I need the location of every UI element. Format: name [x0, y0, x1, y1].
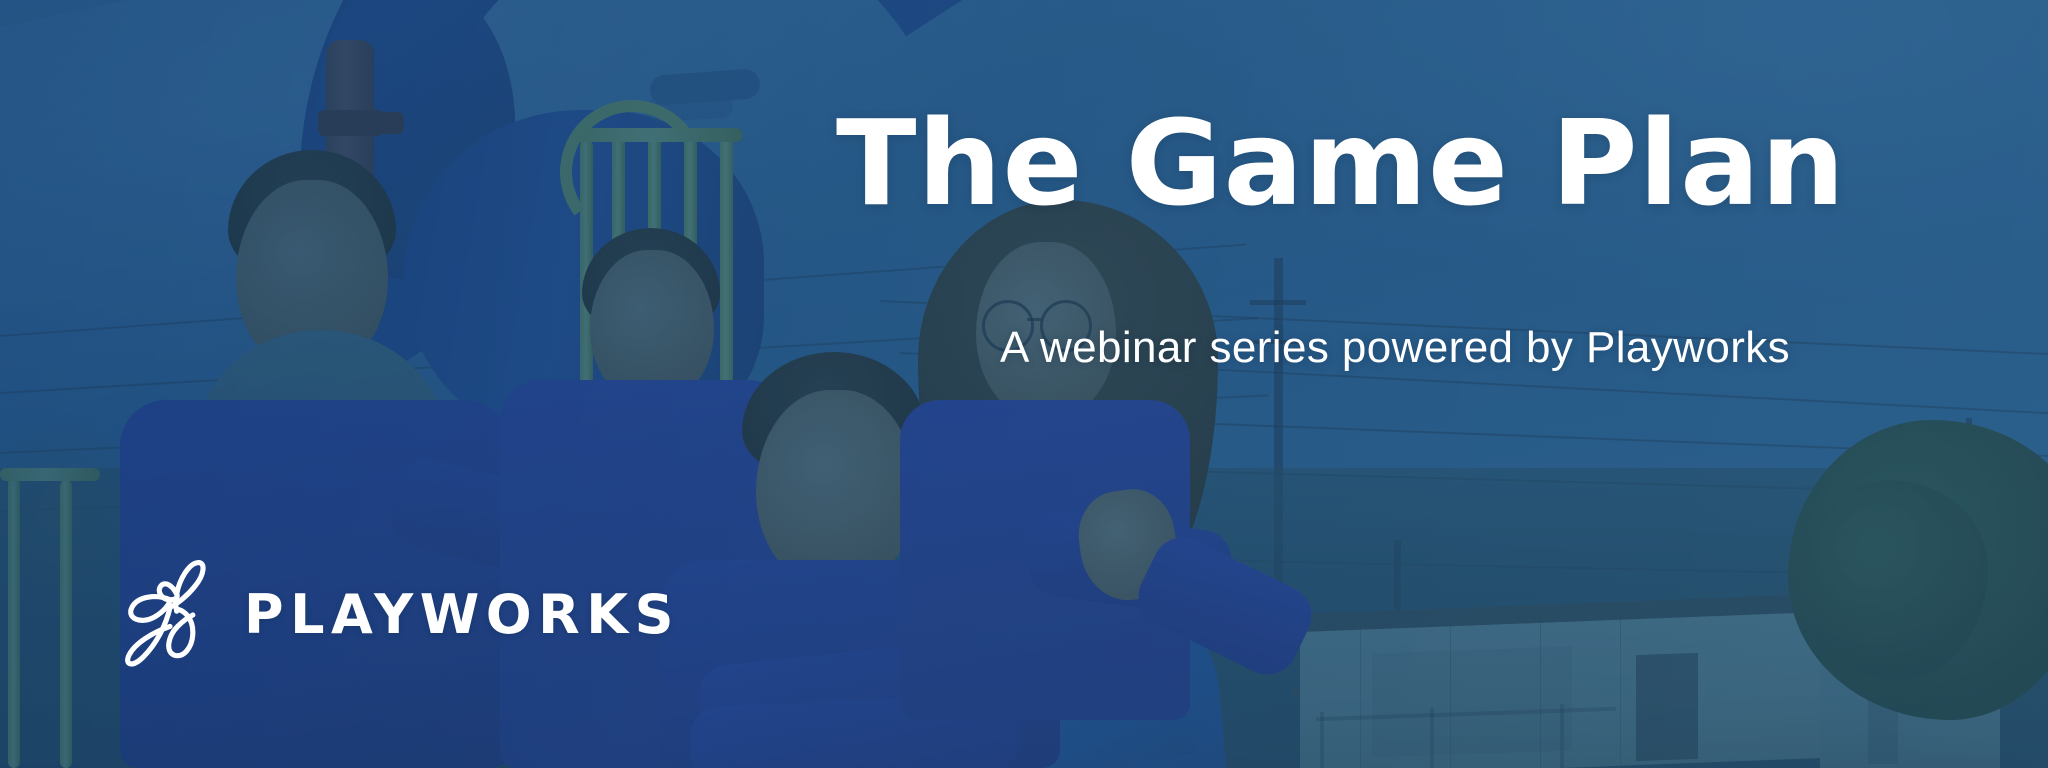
- page-title: The Game Plan: [836, 104, 1846, 222]
- playworks-logo[interactable]: PLAYWORKS: [122, 556, 680, 674]
- page-subtitle: A webinar series powered by Playworks: [1000, 324, 1790, 372]
- game-plan-banner: The Game Plan A webinar series powered b…: [0, 0, 2048, 768]
- playworks-wordmark: PLAYWORKS: [244, 588, 680, 642]
- banner-content: The Game Plan A webinar series powered b…: [0, 0, 2048, 768]
- playworks-loop-icon: [122, 556, 218, 674]
